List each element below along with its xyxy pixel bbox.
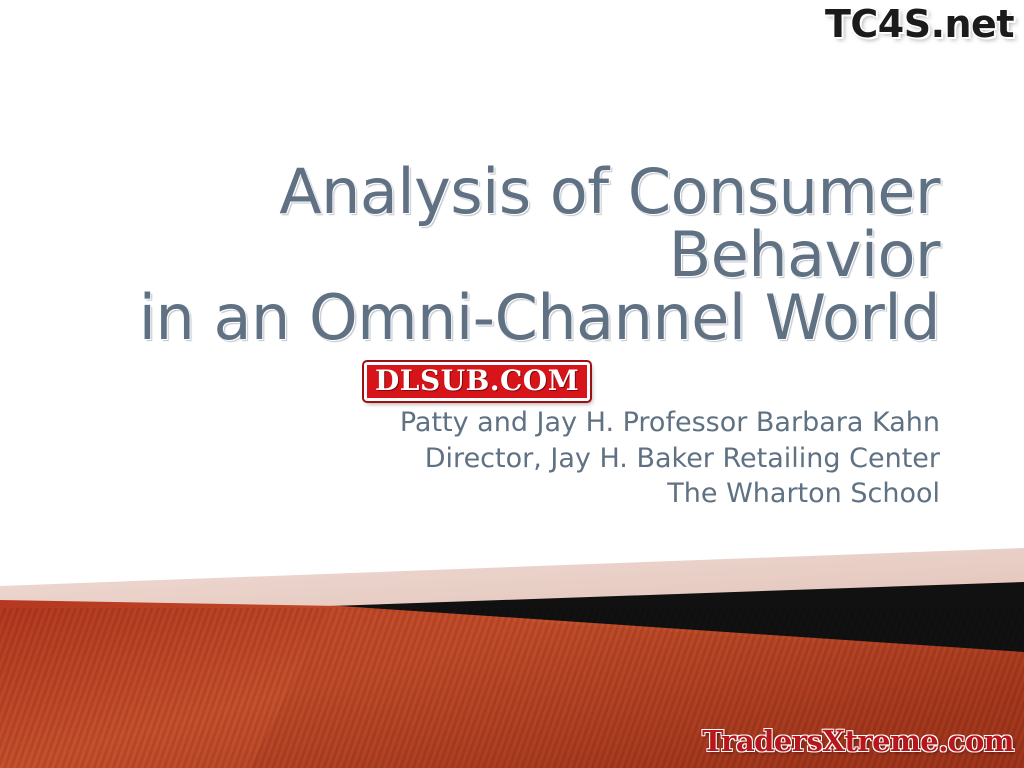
presentation-slide: TC4S.net Analysis of Consumer Behavior i… — [0, 0, 1024, 768]
watermark-stamp: DLSUB.COM — [364, 362, 590, 401]
slide-title: Analysis of Consumer Behavior in an Omni… — [60, 160, 940, 350]
slide-title-line-3: in an Omni-Channel World — [60, 286, 940, 349]
watermark-top-right: TC4S.net — [825, 2, 1014, 46]
slide-subtitle-line-1: Patty and Jay H. Professor Barbara Kahn — [60, 405, 940, 441]
slide-title-line-2: Behavior — [60, 223, 940, 286]
watermark-stamp-label: DLSUB.COM — [375, 367, 579, 395]
slide-title-line-1: Analysis of Consumer — [60, 160, 940, 223]
slide-subtitle-line-2: Director, Jay H. Baker Retailing Center — [60, 441, 940, 477]
slide-subtitle: Patty and Jay H. Professor Barbara Kahn … — [60, 405, 940, 512]
watermark-bottom-right: TradersXtreme.com — [702, 724, 1014, 758]
slide-subtitle-line-3: The Wharton School — [60, 476, 940, 512]
